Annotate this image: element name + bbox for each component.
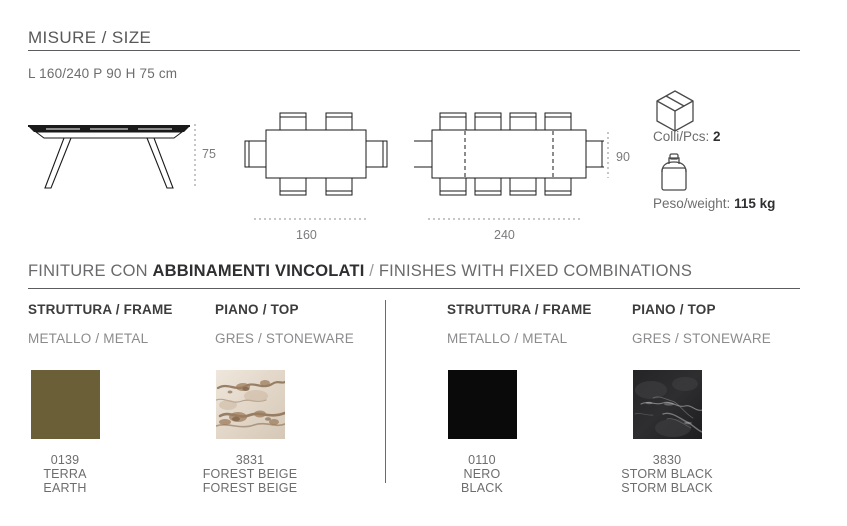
dimensions-text: L 160/240 P 90 H 75 cm <box>28 66 177 81</box>
finishes-title-separator: / <box>364 262 378 280</box>
group2-frame-column-sub: METALLO / METAL <box>447 331 567 346</box>
swatch-0139-name-en: EARTH <box>0 481 140 495</box>
finishes-section-title: FINITURE CON ABBINAMENTI VINCOLATI / FIN… <box>28 262 692 281</box>
weight-icon <box>656 152 694 194</box>
swatch-0110-name-it: NERO <box>407 467 557 481</box>
size-section-title: MISURE / SIZE <box>28 28 151 48</box>
pieces-info: Colli/Pcs: 2 <box>653 129 721 144</box>
swatch-3830-name-it: STORM BLACK <box>592 467 742 481</box>
group2-top-column-sub: GRES / STONEWARE <box>632 331 771 346</box>
table-top-view-240-drawing <box>414 104 604 200</box>
swatch-3831-forest-beige <box>216 370 285 439</box>
swatch-3830-name-en: STORM BLACK <box>592 481 742 495</box>
table-side-view-drawing <box>24 118 194 193</box>
height-dimension-label: 75 <box>202 147 216 161</box>
group-divider <box>385 300 386 483</box>
group1-top-column-sub: GRES / STONEWARE <box>215 331 354 346</box>
width-160-leader <box>254 208 366 212</box>
group1-frame-column-head: STRUTTURA / FRAME <box>28 302 173 317</box>
group1-top-column-head: PIANO / TOP <box>215 302 299 317</box>
width-240-leader <box>428 208 580 212</box>
finishes-title-prefix: FINITURE CON <box>28 262 153 280</box>
swatch-3830-code: 3830 <box>592 453 742 467</box>
box-icon <box>653 88 697 132</box>
swatch-3830-caption: 3830 STORM BLACK STORM BLACK <box>592 453 742 495</box>
pieces-value: 2 <box>713 129 721 144</box>
swatch-3830-storm-black <box>633 370 702 439</box>
height-dimension-leader <box>192 124 198 186</box>
group2-frame-column-head: STRUTTURA / FRAME <box>447 302 592 317</box>
swatch-0139-code: 0139 <box>0 453 140 467</box>
swatch-3831-name-it: FOREST BEIGE <box>175 467 325 481</box>
swatch-0139-name-it: TERRA <box>0 467 140 481</box>
width-160-label: 160 <box>296 228 317 242</box>
finishes-section-rule <box>28 288 800 289</box>
swatch-3831-name-en: FOREST BEIGE <box>175 481 325 495</box>
swatch-3831-caption: 3831 FOREST BEIGE FOREST BEIGE <box>175 453 325 495</box>
weight-label: Peso/weight: <box>653 196 730 211</box>
size-section-rule <box>28 50 800 51</box>
table-top-view-160-drawing <box>240 104 392 200</box>
weight-info: Peso/weight: 115 kg <box>653 196 775 211</box>
finishes-title-strong: ABBINAMENTI VINCOLATI <box>153 262 365 280</box>
swatch-3831-code: 3831 <box>175 453 325 467</box>
group1-frame-column-sub: METALLO / METAL <box>28 331 148 346</box>
pieces-label: Colli/Pcs: <box>653 129 709 144</box>
swatch-0110-code: 0110 <box>407 453 557 467</box>
swatch-0139-terra <box>31 370 100 439</box>
width-240-label: 240 <box>494 228 515 242</box>
swatch-0110-name-en: BLACK <box>407 481 557 495</box>
depth-dimension-leader <box>606 132 611 178</box>
swatch-0139-caption: 0139 TERRA EARTH <box>0 453 140 495</box>
weight-value: 115 kg <box>734 196 775 211</box>
depth-dimension-label: 90 <box>616 150 630 164</box>
finishes-title-suffix: FINISHES WITH FIXED COMBINATIONS <box>379 262 692 280</box>
swatch-0110-caption: 0110 NERO BLACK <box>407 453 557 495</box>
swatch-0110-nero <box>448 370 517 439</box>
group2-top-column-head: PIANO / TOP <box>632 302 716 317</box>
spec-sheet: MISURE / SIZE L 160/240 P 90 H 75 cm 75 <box>0 0 847 526</box>
